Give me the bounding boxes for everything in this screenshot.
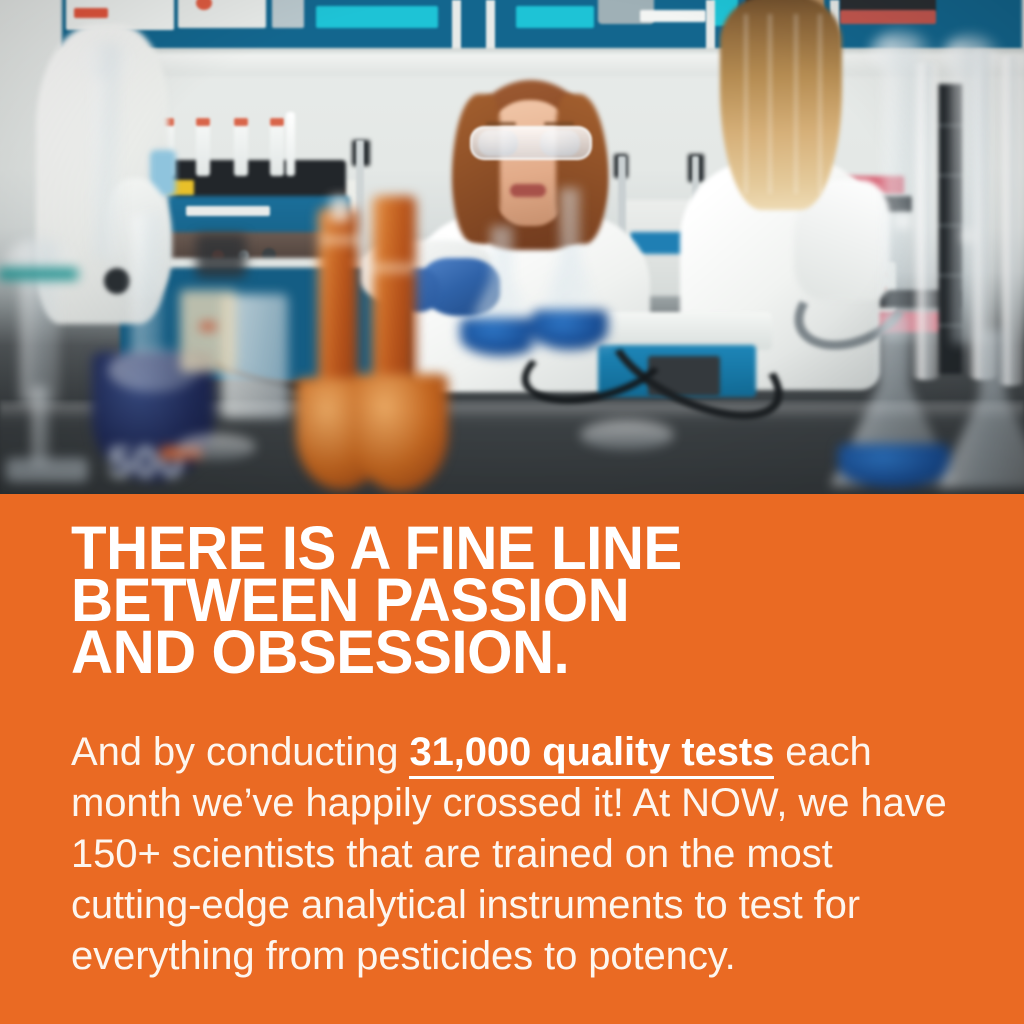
page-title: THERE IS A FINE LINE BETWEEN PASSION AND… [71,522,911,678]
socket-indicator [200,322,216,331]
column-top-bulb [82,40,134,80]
foreground-glassware-group: 500 [0,0,1024,494]
flask-blue-liquid [838,444,950,488]
bottle-cap-dark [196,234,246,278]
lab-photo: 500 [0,0,1024,494]
column-graduation [320,236,358,244]
amber-column [372,196,416,394]
volumetric-flask-neck [132,214,162,364]
burette-stand-base [6,458,88,482]
teal-label [0,268,78,280]
petri-dish [176,434,256,460]
bench-socket-block [180,290,236,372]
tall-glass-column [952,44,986,344]
column-top-bulb [942,34,1000,76]
promo-card: 500 [0,0,1024,1024]
erlenmeyer-flask [938,330,1024,488]
column-stopper [330,196,350,222]
column-top-bulb [870,30,932,74]
body-copy: And by conducting 31,000 quality tests e… [71,727,951,982]
flask-blue-liquid [460,318,542,356]
glass-specular [962,230,974,242]
glass-specular [896,214,910,228]
burette-bulb [6,236,76,288]
amber-column-bulb [352,374,448,492]
column-graduation [374,264,414,272]
stat-highlight: 31,000 quality tests [409,730,774,779]
flask-blue-liquid [532,310,608,350]
body-lead: And by conducting [71,730,409,774]
tall-glass-column [884,40,918,340]
burette-stem [32,386,50,466]
petri-dish [580,420,674,450]
